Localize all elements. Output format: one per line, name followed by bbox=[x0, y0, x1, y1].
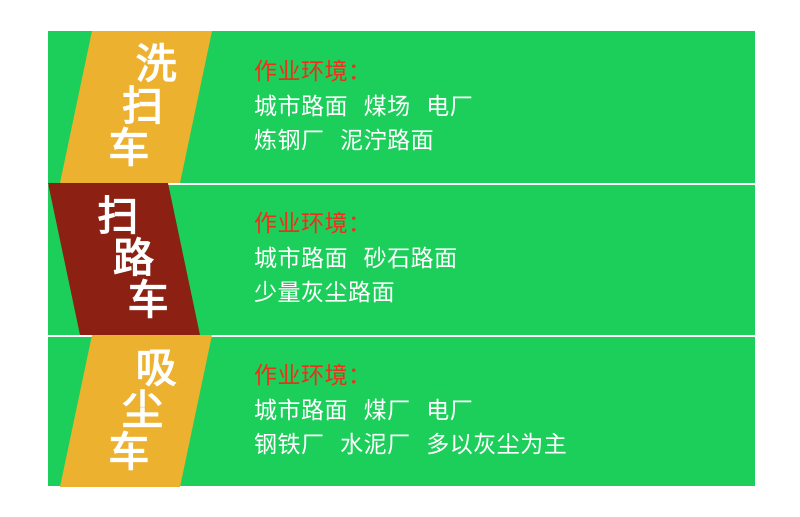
vehicle-banner-road-sweeper[interactable]: 扫 路 车 bbox=[48, 183, 200, 335]
parallelogram-shape-maroon bbox=[48, 183, 200, 335]
table-row: 扫 路 车 作业环境： 城市路面 砂石路面 少量灰尘路面 bbox=[48, 183, 755, 335]
work-environment-heading: 作业环境： bbox=[254, 361, 753, 391]
vehicle-banner-washing-sweeper[interactable]: 洗 扫 车 bbox=[60, 31, 212, 183]
environment-line: 城市路面 煤场 电厂 bbox=[254, 92, 753, 122]
environment-line: 炼钢厂 泥泞路面 bbox=[254, 126, 753, 156]
work-environment-heading: 作业环境： bbox=[254, 57, 753, 87]
row-text-block: 作业环境： 城市路面 煤厂 电厂 钢铁厂 水泥厂 多以灰尘为主 bbox=[248, 335, 753, 487]
table-row: 洗 扫 车 作业环境： 城市路面 煤场 电厂 炼钢厂 泥泞路面 bbox=[48, 31, 755, 183]
row-text-block: 作业环境： 城市路面 煤场 电厂 炼钢厂 泥泞路面 bbox=[248, 31, 753, 183]
vehicle-banner-vacuum-sweeper[interactable]: 吸 尘 车 bbox=[60, 335, 212, 487]
diagram-canvas: 洗 扫 车 作业环境： 城市路面 煤场 电厂 炼钢厂 泥泞路面 bbox=[0, 0, 800, 517]
environment-line: 城市路面 砂石路面 bbox=[254, 244, 753, 274]
environment-line: 钢铁厂 水泥厂 多以灰尘为主 bbox=[254, 430, 753, 460]
parallelogram-shape-gold bbox=[60, 31, 212, 183]
work-environment-heading: 作业环境： bbox=[254, 209, 753, 239]
parallelogram-shape-gold bbox=[60, 335, 212, 487]
green-panel: 洗 扫 车 作业环境： 城市路面 煤场 电厂 炼钢厂 泥泞路面 bbox=[48, 31, 755, 486]
table-row: 吸 尘 车 作业环境： 城市路面 煤厂 电厂 钢铁厂 水泥厂 多以灰尘为主 bbox=[48, 335, 755, 487]
environment-line: 城市路面 煤厂 电厂 bbox=[254, 396, 753, 426]
environment-line: 少量灰尘路面 bbox=[254, 278, 753, 308]
row-text-block: 作业环境： 城市路面 砂石路面 少量灰尘路面 bbox=[248, 183, 753, 335]
